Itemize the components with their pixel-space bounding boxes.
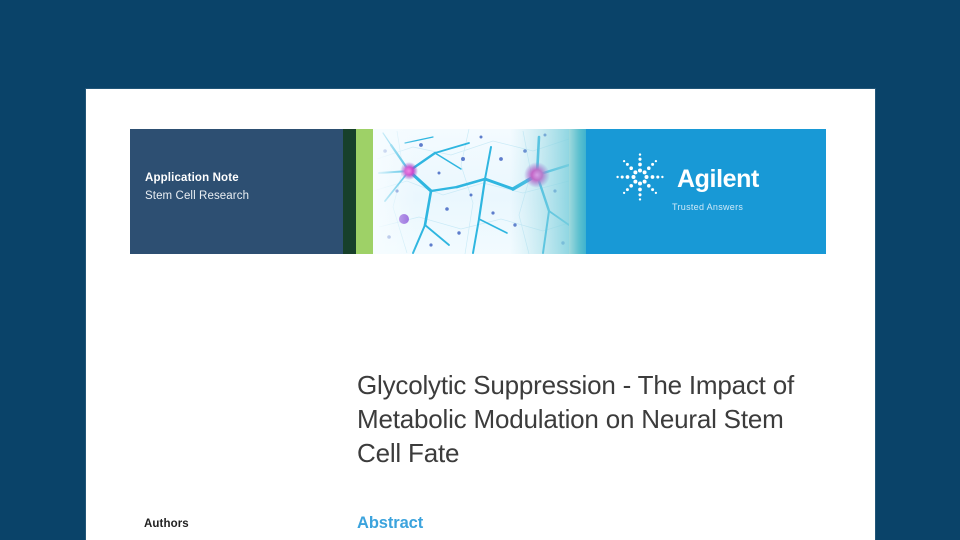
page-title: Glycolytic Suppression - The Impact of M…	[357, 368, 797, 470]
banner-teal-stripe	[569, 129, 586, 254]
screenshot-viewport: Application Note Stem Cell Research	[0, 0, 960, 540]
agilent-tagline: Trusted Answers	[672, 202, 743, 212]
agilent-starburst-icon	[612, 149, 668, 210]
document-page: Application Note Stem Cell Research	[86, 89, 875, 540]
neuron-micrograph-image	[373, 129, 569, 254]
banner-kicker: Application Note	[145, 169, 249, 187]
banner-subtitle: Stem Cell Research	[145, 187, 249, 205]
authors-heading: Authors	[144, 518, 189, 530]
banner-title-text: Application Note Stem Cell Research	[145, 169, 249, 205]
banner-dark-green-stripe	[343, 129, 356, 254]
banner-title-block: Application Note Stem Cell Research	[130, 129, 343, 254]
document-header-banner: Application Note Stem Cell Research	[130, 129, 826, 254]
banner-light-green-stripe	[356, 129, 373, 254]
agilent-logo-lockup: Agilent	[612, 149, 759, 210]
banner-brand-block: Agilent Trusted Answers	[586, 129, 826, 254]
agilent-wordmark: Agilent	[677, 167, 759, 192]
abstract-heading: Abstract	[357, 514, 423, 533]
